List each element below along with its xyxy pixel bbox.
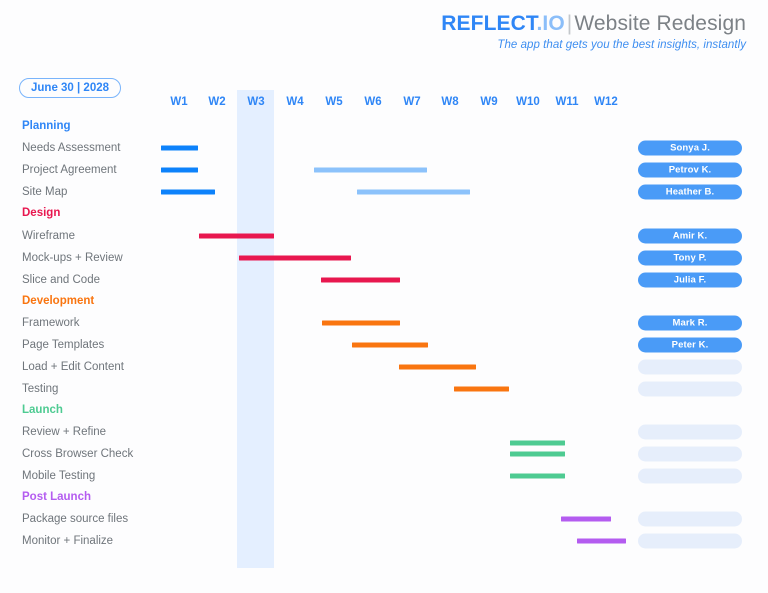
group-label-launch[interactable]: Launch bbox=[22, 404, 63, 416]
gantt-bar-monitor-finalize[interactable] bbox=[577, 539, 626, 544]
assignee-pill-testing[interactable] bbox=[638, 382, 742, 397]
task-label-slice-and-code[interactable]: Slice and Code bbox=[22, 274, 100, 286]
gantt-bar-cross-browser-check[interactable] bbox=[510, 452, 565, 457]
assignee-pill-monitor-finalize[interactable] bbox=[638, 534, 742, 549]
week-header-w2[interactable]: W2 bbox=[208, 96, 225, 108]
week-header-w5[interactable]: W5 bbox=[325, 96, 342, 108]
assignee-pill-load-edit-content[interactable] bbox=[638, 360, 742, 375]
group-label-design[interactable]: Design bbox=[22, 207, 60, 219]
gantt-bar-testing[interactable] bbox=[454, 387, 509, 392]
gantt-bar-framework[interactable] bbox=[322, 321, 400, 326]
task-label-framework[interactable]: Framework bbox=[22, 317, 80, 329]
gantt-bar-mock-ups-review[interactable] bbox=[239, 256, 351, 261]
task-label-wireframe[interactable]: Wireframe bbox=[22, 230, 75, 242]
task-label-site-map[interactable]: Site Map bbox=[22, 186, 67, 198]
task-label-project-agreement[interactable]: Project Agreement bbox=[22, 164, 117, 176]
task-label-testing[interactable]: Testing bbox=[22, 383, 58, 395]
task-label-mock-ups-review[interactable]: Mock-ups + Review bbox=[22, 252, 123, 264]
task-label-review-refine[interactable]: Review + Refine bbox=[22, 426, 106, 438]
gantt-bar-site-map-segment-2[interactable] bbox=[357, 190, 470, 195]
assignee-pill-needs-assessment[interactable]: Sonya J. bbox=[638, 141, 742, 156]
week-header-w9[interactable]: W9 bbox=[480, 96, 497, 108]
gantt-bar-wireframe[interactable] bbox=[199, 234, 274, 239]
task-label-cross-browser-check[interactable]: Cross Browser Check bbox=[22, 448, 133, 460]
assignee-pill-slice-and-code[interactable]: Julia F. bbox=[638, 273, 742, 288]
group-label-development[interactable]: Development bbox=[22, 295, 94, 307]
assignee-pill-mobile-testing[interactable] bbox=[638, 469, 742, 484]
gantt-bar-project-agreement[interactable] bbox=[161, 168, 198, 173]
week-header-w1[interactable]: W1 bbox=[170, 96, 187, 108]
assignee-pill-site-map[interactable]: Heather B. bbox=[638, 185, 742, 200]
assignee-pill-framework[interactable]: Mark R. bbox=[638, 316, 742, 331]
gantt-bar-load-edit-content[interactable] bbox=[399, 365, 476, 370]
gantt-bar-site-map[interactable] bbox=[161, 190, 215, 195]
gantt-bar-mobile-testing[interactable] bbox=[510, 474, 565, 479]
week-header-w10[interactable]: W10 bbox=[516, 96, 540, 108]
group-label-planning[interactable]: Planning bbox=[22, 120, 71, 132]
week-header-w11[interactable]: W11 bbox=[555, 96, 578, 108]
assignee-pill-mock-ups-review[interactable]: Tony P. bbox=[638, 251, 742, 266]
week-header-w4[interactable]: W4 bbox=[286, 96, 303, 108]
assignee-pill-page-templates[interactable]: Peter K. bbox=[638, 338, 742, 353]
assignee-pill-project-agreement[interactable]: Petrov K. bbox=[638, 163, 742, 178]
task-label-monitor-finalize[interactable]: Monitor + Finalize bbox=[22, 535, 113, 547]
assignee-pill-cross-browser-check[interactable] bbox=[638, 447, 742, 462]
gantt-bar-slice-and-code[interactable] bbox=[321, 278, 400, 283]
current-week-highlight-column bbox=[237, 90, 274, 568]
task-label-needs-assessment[interactable]: Needs Assessment bbox=[22, 142, 120, 154]
week-header-w3[interactable]: W3 bbox=[247, 96, 264, 108]
gantt-bar-needs-assessment[interactable] bbox=[161, 146, 198, 151]
assignee-pill-wireframe[interactable]: Amir K. bbox=[638, 229, 742, 244]
gantt-bar-page-templates[interactable] bbox=[352, 343, 428, 348]
week-header-w8[interactable]: W8 bbox=[441, 96, 458, 108]
gantt-bar-review-refine[interactable] bbox=[510, 441, 565, 446]
task-label-package-source-files[interactable]: Package source files bbox=[22, 513, 128, 525]
week-header-w6[interactable]: W6 bbox=[364, 96, 381, 108]
week-header-w12[interactable]: W12 bbox=[594, 96, 618, 108]
gantt-bar-project-agreement-segment-2[interactable] bbox=[314, 168, 427, 173]
task-label-page-templates[interactable]: Page Templates bbox=[22, 339, 104, 351]
assignee-pill-package-source-files[interactable] bbox=[638, 512, 742, 527]
task-label-load-edit-content[interactable]: Load + Edit Content bbox=[22, 361, 124, 373]
gantt-bar-package-source-files[interactable] bbox=[561, 517, 611, 522]
assignee-pill-review-refine[interactable] bbox=[638, 425, 742, 440]
group-label-post-launch[interactable]: Post Launch bbox=[22, 491, 91, 503]
week-header-w7[interactable]: W7 bbox=[403, 96, 420, 108]
gantt-chart: W1W2W3W4W5W6W7W8W9W10W11W12 PlanningNeed… bbox=[0, 0, 768, 593]
task-label-mobile-testing[interactable]: Mobile Testing bbox=[22, 470, 95, 482]
